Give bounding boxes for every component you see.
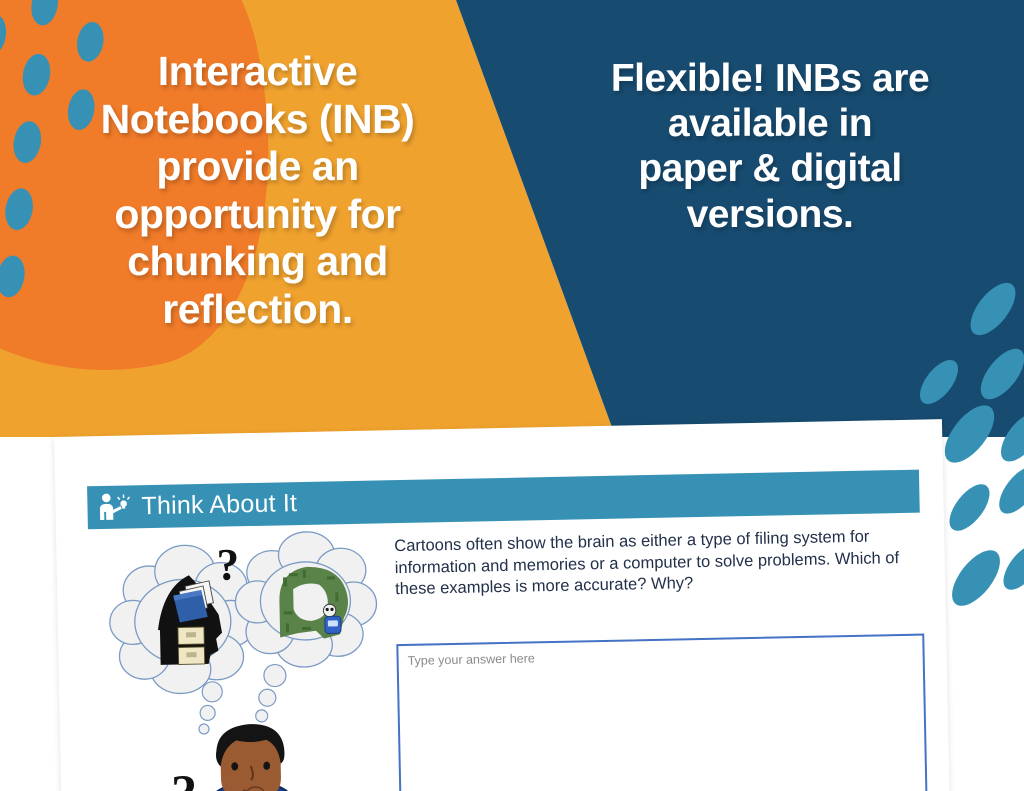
worksheet-header-bar: Think About It: [87, 470, 920, 530]
answer-placeholder-text: Type your answer here: [398, 636, 922, 669]
bubble-circuit-brain-computer: [234, 531, 378, 669]
decorative-dot: [0, 12, 9, 58]
question-mark-top: ?: [216, 538, 240, 590]
worksheet-question-block: Cartoons often show the brain as either …: [394, 526, 925, 601]
answer-input[interactable]: Type your answer here: [396, 634, 928, 791]
boy-thinking: [206, 723, 296, 791]
decorative-dot: [2, 186, 36, 232]
person-with-idea-icon: [97, 491, 132, 522]
headline-right: Flexible! INBs are available in paper & …: [560, 56, 980, 237]
decorative-dot: [10, 119, 44, 165]
headline-left: Interactive Notebooks (INB) provide an o…: [60, 48, 455, 333]
decorative-dot: [20, 52, 54, 98]
slide-canvas: Interactive Notebooks (INB) provide an o…: [0, 0, 1024, 791]
question-mark-bottom: ?: [171, 764, 198, 791]
thinking-boy-illustration: [96, 525, 402, 791]
worksheet-card: Think About It: [54, 419, 950, 791]
worksheet-header-title: Think About It: [141, 489, 297, 521]
decorative-dot: [28, 0, 61, 27]
decorative-dot: [0, 253, 28, 299]
worksheet-question-text: Cartoons often show the brain as either …: [394, 526, 925, 601]
